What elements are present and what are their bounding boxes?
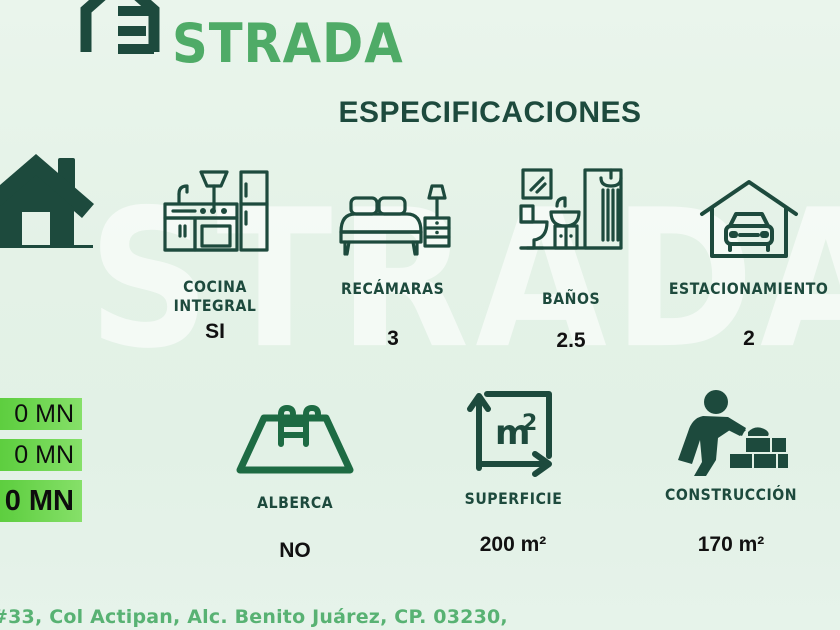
spec-label: ESTACIONAMIENTO bbox=[669, 280, 829, 299]
spec-item-recamaras: RECÁMARAS 3 bbox=[304, 168, 482, 353]
spec-item-superficie: m 2 SUPERFICIE 200 m² bbox=[404, 386, 622, 563]
price-badge[interactable]: 0 MN bbox=[0, 439, 82, 471]
spec-label: BAÑOS bbox=[542, 290, 600, 309]
price-badge-list: 0 MN 0 MN 0 MN bbox=[0, 398, 82, 522]
spec-label: SUPERFICIE bbox=[464, 490, 562, 509]
spec-row-secondary: ALBERCA NO m 2 SUPERFICIE 200 m² bbox=[186, 386, 840, 563]
spec-label: ALBERCA bbox=[257, 494, 333, 513]
brand-logo: STRADA bbox=[74, 0, 424, 67]
house-monogram-icon bbox=[74, 0, 166, 67]
spec-label: CONSTRUCCIÓN bbox=[665, 486, 797, 505]
bathroom-icon bbox=[517, 168, 625, 266]
price-badge-highlighted[interactable]: 0 MN bbox=[0, 480, 82, 522]
square-meters-icon: m 2 bbox=[465, 386, 561, 478]
spec-value: 200 m² bbox=[480, 533, 547, 557]
page-title: ESPECIFICACIONES bbox=[0, 96, 840, 130]
spec-value: 170 m² bbox=[698, 533, 765, 557]
kitchen-icon bbox=[161, 168, 269, 266]
brand-wordmark: STRADA bbox=[172, 17, 404, 71]
spec-value: NO bbox=[279, 539, 311, 563]
spec-item-alberca: ALBERCA NO bbox=[186, 386, 404, 563]
price-badge[interactable]: 0 MN bbox=[0, 398, 82, 430]
spec-value: SI bbox=[205, 320, 225, 344]
spec-item-banos: BAÑOS 2.5 bbox=[482, 168, 660, 353]
spec-label: RECÁMARAS bbox=[341, 280, 444, 299]
svg-text:2: 2 bbox=[522, 411, 537, 436]
spec-item-estacionamiento: ESTACIONAMIENTO 2 bbox=[660, 168, 838, 353]
footer-address: #33, Col Actipan, Alc. Benito Juárez, CP… bbox=[0, 606, 508, 628]
pool-icon bbox=[234, 386, 356, 478]
garage-car-icon bbox=[696, 168, 802, 266]
spec-item-construccion: CONSTRUCCIÓN 170 m² bbox=[622, 386, 840, 563]
spec-value: 3 bbox=[387, 327, 399, 351]
spec-label: COCINA INTEGRAL bbox=[174, 278, 257, 316]
spec-item-cocina-integral: COCINA INTEGRAL SI bbox=[126, 168, 304, 353]
divider bbox=[0, 245, 93, 248]
spec-value: 2 bbox=[743, 327, 755, 351]
construction-icon bbox=[672, 386, 790, 478]
spec-row-primary: COCINA INTEGRAL SI bbox=[126, 168, 840, 353]
property-spec-flyer: STRADA STRADA ESPECIFICACIONES bbox=[0, 0, 840, 630]
house-icon bbox=[0, 142, 100, 255]
bed-icon bbox=[335, 168, 451, 266]
spec-value: 2.5 bbox=[556, 329, 585, 353]
